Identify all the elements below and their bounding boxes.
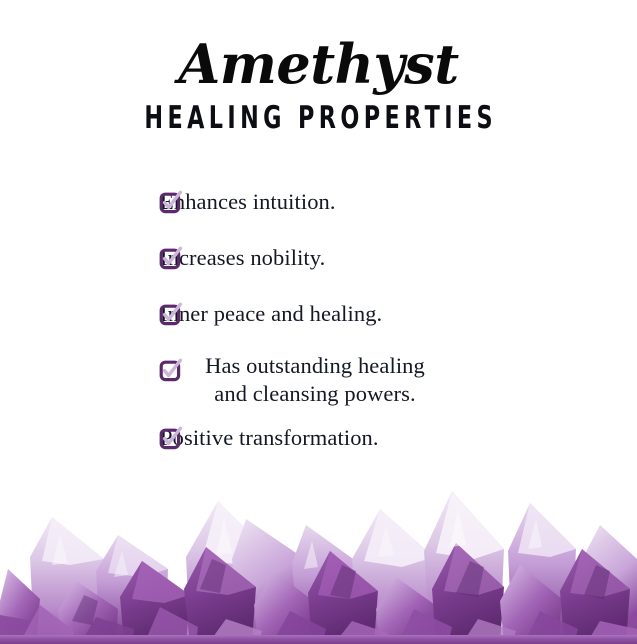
list-item: Increases nobility.	[0, 239, 637, 295]
heading-block: Amethyst HEALING PROPERTIES	[0, 34, 637, 135]
list-item: Has outstanding healing and cleansing po…	[0, 351, 637, 419]
checkbox-checked-icon[interactable]	[159, 302, 183, 326]
checkbox-checked-icon[interactable]	[159, 246, 183, 270]
list-item-label: Increases nobility.	[160, 239, 637, 272]
list-item-label: Has outstanding healing and cleansing po…	[160, 351, 470, 408]
list-item-label: Enhances intuition.	[160, 183, 637, 216]
checkbox-checked-icon[interactable]	[159, 358, 183, 382]
page-subtitle: HEALING PROPERTIES	[64, 101, 574, 135]
list-item: Inner peace and healing.	[0, 295, 637, 351]
list-item-label: Inner peace and healing.	[160, 295, 637, 328]
properties-list: Enhances intuition. Increases nobility. …	[0, 183, 637, 475]
list-item: Enhances intuition.	[0, 183, 637, 239]
amethyst-healing-properties-card: Amethyst HEALING PROPERTIES Enhances int…	[0, 0, 637, 644]
checkbox-checked-icon[interactable]	[159, 190, 183, 214]
page-title: Amethyst	[0, 34, 637, 94]
amethyst-crystal-cluster-photo	[0, 439, 637, 644]
